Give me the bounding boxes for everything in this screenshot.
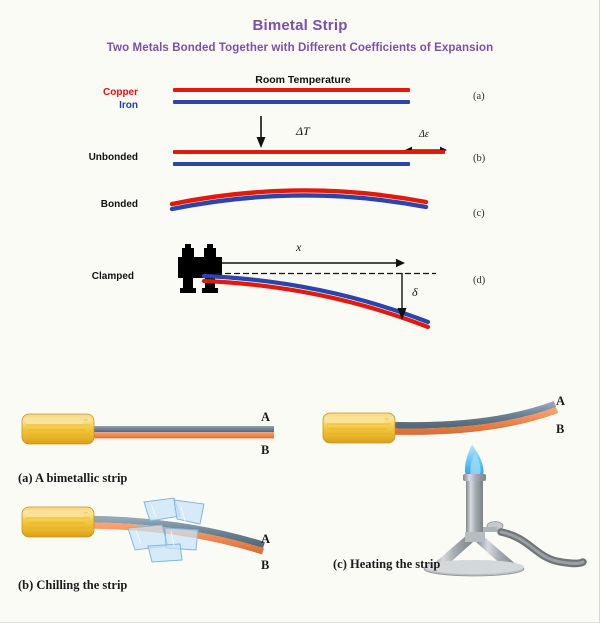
figure-title: Bimetal Strip (0, 17, 600, 34)
delta-t-label: ΔT (296, 124, 310, 139)
deflection-arrow-icon (395, 273, 409, 321)
bimetallic-strip-panels: A B (a) A bimetallic strip (0, 380, 600, 623)
room-temperature-header: Room Temperature (178, 74, 428, 86)
panel-c-strip-illustration (305, 392, 585, 572)
strip-a-iron-bar (173, 100, 410, 104)
strip-b-copper-bar (173, 150, 445, 154)
strip-a-copper-bar (173, 88, 410, 92)
figure-page: Bimetal Strip Two Metals Bonded Together… (0, 0, 600, 623)
material-label-iron: Iron (70, 100, 138, 111)
row-label-bonded: Bonded (48, 199, 138, 210)
strip-b-iron-bar (173, 162, 410, 166)
row-tag-a: (a) (473, 91, 485, 102)
deflection-label: δ (412, 285, 418, 300)
bonded-strip-curve (168, 180, 433, 220)
row-label-unbonded: Unbonded (48, 152, 138, 163)
panel-a-label-top: A (261, 410, 270, 425)
panel-c-label-bottom: B (556, 422, 564, 437)
panel-a-label-bottom: B (261, 443, 269, 458)
row-tag-b: (b) (473, 153, 485, 164)
delta-t-arrow-icon (253, 114, 283, 150)
panel-c-label-top: A (556, 394, 565, 409)
panel-b-strip-illustration (20, 498, 290, 568)
row-label-clamped: Clamped (44, 271, 134, 282)
length-x-label: x (296, 240, 301, 255)
row-tag-d: (d) (473, 275, 485, 286)
figure-subtitle: Two Metals Bonded Together with Differen… (0, 42, 600, 54)
panel-b-caption: (b) Chilling the strip (18, 578, 127, 593)
panel-a-caption: (a) A bimetallic strip (18, 471, 127, 486)
bimetal-diagram: Room Temperature Copper Iron (a) ΔT Δε U… (8, 62, 592, 362)
panel-b-label-bottom: B (261, 558, 269, 573)
material-label-copper: Copper (70, 87, 138, 98)
delta-epsilon-label: Δε (419, 129, 429, 140)
panel-b-label-top: A (261, 532, 270, 547)
panel-a-strip-illustration (20, 408, 290, 470)
row-tag-c: (c) (473, 208, 485, 219)
ice-cubes-icon (128, 498, 204, 562)
panel-c-caption: (c) Heating the strip (333, 557, 440, 572)
